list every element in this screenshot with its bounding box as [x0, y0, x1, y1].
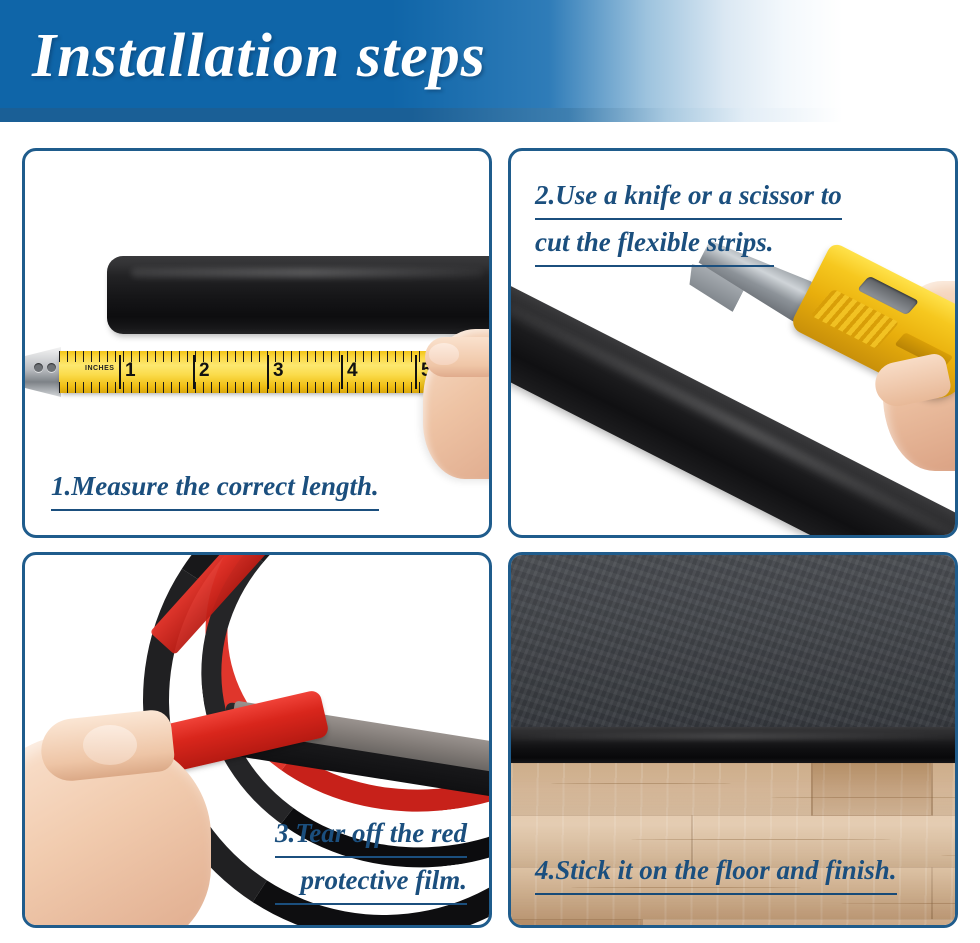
step-card-3: 3.Tear off the red protective film.: [22, 552, 492, 928]
tape-number-4: 4: [347, 360, 358, 382]
tape-number-3: 3: [273, 360, 284, 382]
step-caption-4: 4.Stick it on the floor and finish.: [535, 848, 897, 895]
step-caption-2-line-2: cut the flexible strips.: [535, 220, 774, 267]
step-caption-3: 3.Tear off the red protective film.: [275, 811, 467, 905]
installed-black-strip: [511, 727, 955, 765]
dark-grey-wall: [511, 555, 955, 730]
tape-number-2: 2: [199, 360, 210, 382]
step-card-2: 2.Use a knife or a scissor to cut the fl…: [508, 148, 958, 538]
step-caption-4-line-1: 4.Stick it on the floor and finish.: [535, 848, 897, 895]
page-header-banner: Installation steps: [0, 0, 980, 122]
tape-measure-blade: INCHES 1 2 3 4 5: [59, 351, 459, 393]
fingernail: [429, 343, 459, 365]
step-caption-1-line-1: 1.Measure the correct length.: [51, 464, 379, 511]
page-title: Installation steps: [32, 20, 486, 92]
wood-laminate-floor: [511, 763, 955, 925]
step-caption-2: 2.Use a knife or a scissor to cut the fl…: [535, 173, 842, 267]
thumbnail: [83, 725, 137, 765]
step-caption-1: 1.Measure the correct length.: [51, 464, 379, 511]
step-caption-3-line-1: 3.Tear off the red: [275, 811, 467, 858]
tape-measure-hook: [25, 347, 61, 397]
hook-hole-right: [47, 363, 56, 372]
tape-number-row: 1 2 3 4 5: [59, 351, 459, 393]
step-card-1: INCHES 1 2 3 4 5 1.Measure the: [22, 148, 492, 538]
header-accent-bar: [0, 108, 980, 122]
step-caption-2-line-1: 2.Use a knife or a scissor to: [535, 173, 842, 220]
hook-hole-left: [34, 363, 43, 372]
step-card-4: 4.Stick it on the floor and finish.: [508, 552, 958, 928]
steps-grid: INCHES 1 2 3 4 5 1.Measure the: [22, 148, 958, 928]
tape-number-1: 1: [125, 360, 136, 382]
black-rubber-strip: [107, 256, 489, 334]
step-caption-3-line-2: protective film.: [275, 858, 467, 905]
